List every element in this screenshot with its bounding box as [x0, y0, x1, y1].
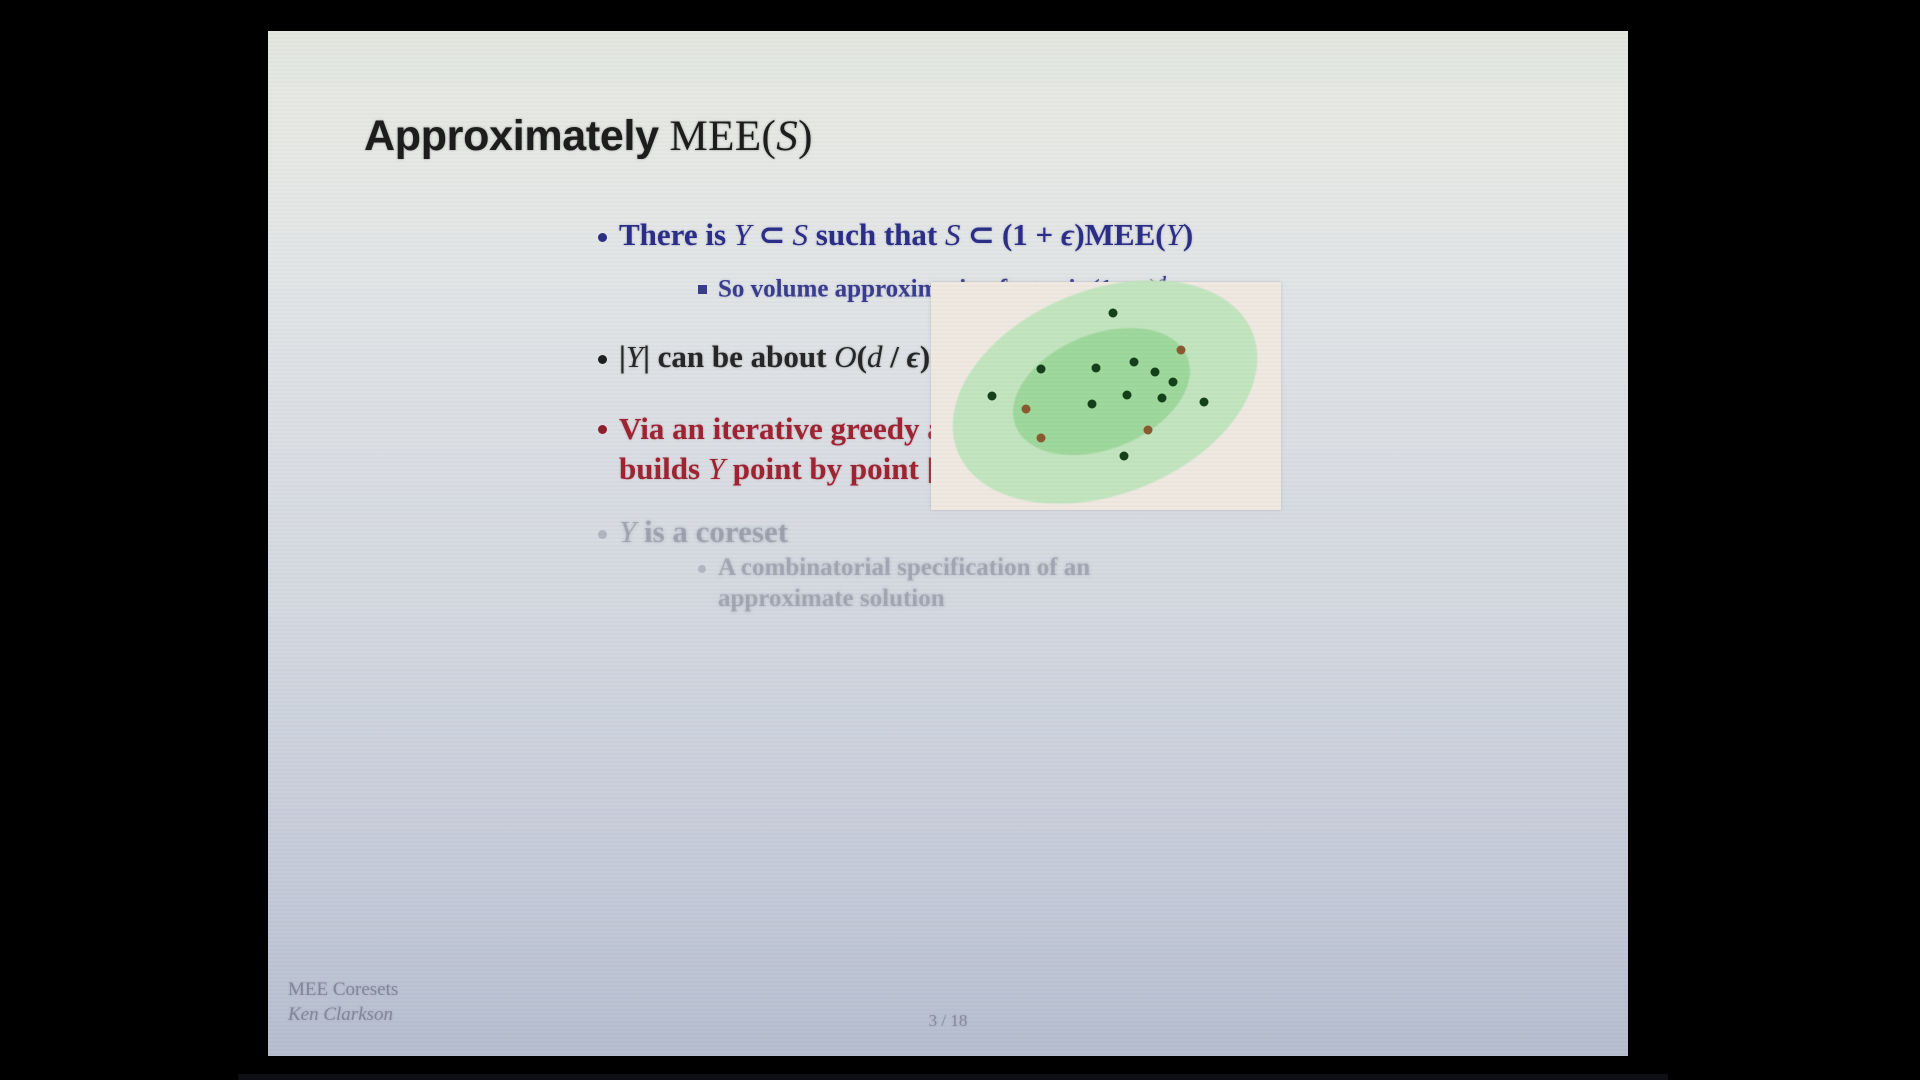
b1-var-y2: Y	[1166, 217, 1183, 252]
b1-epsilon: ϵ	[1061, 217, 1074, 252]
bullet-disc-icon	[598, 530, 607, 539]
figure-point	[1037, 434, 1046, 443]
figure-point	[1021, 404, 1030, 413]
b1-var-y1: Y	[734, 217, 751, 252]
bullet-text-2: |Y| can be about O(d / ϵ)	[619, 339, 930, 375]
b3-var-y: Y	[708, 451, 725, 486]
page-number: 3 / 18	[268, 1011, 1628, 1031]
b4-var-y: Y	[619, 514, 636, 549]
b1-frag-b: such that	[808, 217, 945, 252]
b1-paren-open: (1 +	[1002, 217, 1061, 252]
figure-point	[1200, 397, 1209, 406]
bullet-square-icon	[698, 285, 707, 294]
figure-point	[988, 392, 997, 401]
b2-paren-open: (	[857, 339, 867, 374]
bullet-disc-icon	[598, 425, 607, 434]
b2-bar-2: |	[643, 339, 650, 374]
b2-var-y: Y	[626, 339, 643, 374]
bullet-item-1: There is Y ⊂ S such that S ⊂ (1 + ϵ)MEE(…	[598, 217, 1193, 253]
bullet-disc-icon	[598, 233, 607, 242]
b1-end: )	[1183, 217, 1193, 252]
b1-subset-1: ⊂	[751, 217, 792, 252]
bullet-disc-icon	[698, 565, 706, 573]
figure-point	[1130, 357, 1139, 366]
bullet-disc-icon	[598, 355, 607, 364]
screen-root: Approximately MEE(S) There is Y ⊂ S such…	[0, 0, 1920, 1080]
b4-frag-a: is a coreset	[636, 514, 788, 549]
bullet-item-4-sub-faded: A combinatorial specification of an appr…	[698, 553, 1148, 614]
figure-point	[1091, 363, 1100, 372]
figure-point	[1177, 346, 1186, 355]
title-math-italic: S	[776, 113, 798, 160]
figure-point	[1151, 368, 1160, 377]
bullet-text-1: There is Y ⊂ S such that S ⊂ (1 + ϵ)MEE(…	[619, 217, 1193, 253]
b2-slash: /	[882, 339, 906, 374]
figure-point	[1037, 364, 1046, 373]
figure-point	[1144, 426, 1153, 435]
b2-epsilon: ϵ	[907, 339, 920, 374]
figure-point	[1158, 394, 1167, 403]
b1-frag-a: There is	[619, 217, 734, 252]
b2-var-d: d	[867, 339, 883, 374]
page-title: Approximately MEE(S)	[364, 113, 813, 160]
b2-bar-1: |	[619, 339, 626, 374]
b1-var-s2: S	[945, 217, 961, 252]
b1-paren-close: )MEE(	[1074, 217, 1165, 252]
figure-point	[1119, 452, 1128, 461]
figure-point	[1088, 399, 1097, 408]
bullet-text-4-sub: A combinatorial specification of an appr…	[718, 553, 1148, 614]
presentation-slide: Approximately MEE(S) There is Y ⊂ S such…	[268, 31, 1628, 1056]
title-math-part: MEE(	[670, 113, 777, 160]
b2-paren-close: )	[920, 339, 930, 374]
figure-point	[1168, 378, 1177, 387]
title-math-close: )	[798, 113, 813, 160]
title-bold-part: Approximately	[364, 112, 659, 160]
b2-bigo: O	[834, 339, 856, 374]
bullet-item-4-faded: Y is a coreset	[598, 514, 788, 550]
b1-subset-2: ⊂	[961, 217, 1002, 252]
footer-title: MEE Coresets	[288, 977, 398, 1003]
bullet-item-2: |Y| can be about O(d / ϵ)	[598, 339, 930, 375]
screen-bottom-strip	[238, 1074, 1668, 1080]
b2-frag-a: can be about	[650, 339, 834, 374]
figure-point	[1123, 390, 1132, 399]
b1-var-s1: S	[793, 217, 809, 252]
figure-point	[1109, 308, 1118, 317]
bullet-text-4: Y is a coreset	[619, 514, 788, 550]
ellipse-figure	[931, 282, 1281, 510]
